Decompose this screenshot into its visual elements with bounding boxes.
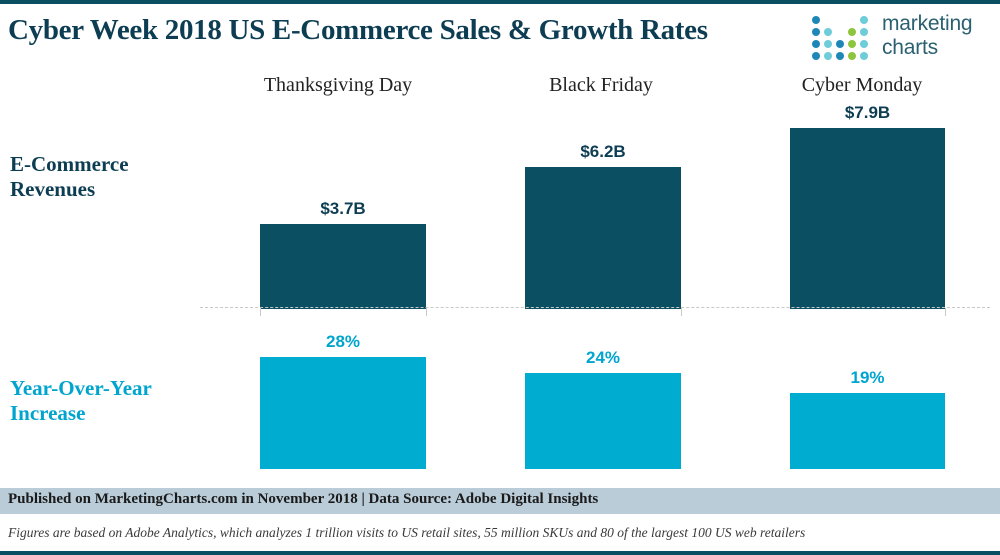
logo-dot [812, 40, 820, 48]
logo-dot [860, 28, 868, 36]
column-header-thanksgiving-day: Thanksgiving Day [200, 74, 476, 97]
logo-dot [824, 52, 832, 60]
axis-tick [426, 308, 427, 316]
row-label-ecommerce-revenues: E-Commerce Revenues [10, 152, 200, 202]
logo-dot [860, 40, 868, 48]
axis-tick [260, 308, 261, 316]
bar-revenue-thanksgiving-day [260, 224, 426, 309]
row-label-yoy-line1: Year-Over-Year [10, 376, 200, 401]
logo-dot [836, 40, 844, 48]
logo-dot [812, 28, 820, 36]
bar-yoy-thanksgiving-day [260, 357, 426, 469]
column-header-cyber-monday: Cyber Monday [730, 74, 994, 97]
logo-dot [848, 40, 856, 48]
bar-value-revenue-thanksgiving-day: $3.7B [260, 199, 426, 219]
header: Cyber Week 2018 US E-Commerce Sales & Gr… [0, 8, 1000, 66]
footer-band: Published on MarketingCharts.com in Nove… [0, 488, 1000, 514]
footer-published-text: Published on MarketingCharts.com in Nove… [8, 491, 598, 508]
bar-value-revenue-cyber-monday: $7.9B [790, 103, 945, 123]
bar-yoy-cyber-monday [790, 393, 945, 469]
logo-dot [860, 16, 868, 24]
logo-dot [860, 52, 868, 60]
row-label-year-over-year-increase: Year-Over-Year Increase [10, 376, 200, 426]
yoy-bar-panel: 28% 24% 19% [200, 334, 990, 469]
bar-revenue-cyber-monday [790, 128, 945, 309]
logo-wordmark-line2: charts [882, 36, 972, 60]
revenue-bar-panel: $3.7B $6.2B $7.9B [200, 104, 990, 309]
bar-value-yoy-thanksgiving-day: 28% [260, 332, 426, 352]
column-header-black-friday: Black Friday [468, 74, 734, 97]
logo-wordmark: marketing charts [882, 12, 972, 60]
logo-dot [824, 40, 832, 48]
logo-dot [812, 16, 820, 24]
row-label-ecommerce-revenues-line2: Revenues [10, 177, 200, 202]
logo-dot [836, 52, 844, 60]
row-label-ecommerce-revenues-line1: E-Commerce [10, 152, 200, 177]
page-title: Cyber Week 2018 US E-Commerce Sales & Gr… [8, 14, 708, 47]
bar-yoy-black-friday [525, 373, 681, 469]
footer-note-text: Figures are based on Adobe Analytics, wh… [8, 525, 805, 541]
logo-dot [824, 28, 832, 36]
axis-tick [681, 308, 682, 316]
baseline-axis [200, 307, 990, 309]
bar-value-yoy-black-friday: 24% [525, 348, 681, 368]
bar-revenue-black-friday [525, 167, 681, 309]
logo-dot [848, 28, 856, 36]
bar-value-yoy-cyber-monday: 19% [790, 368, 945, 388]
bar-value-revenue-black-friday: $6.2B [525, 142, 681, 162]
logo-dot [848, 52, 856, 60]
row-label-yoy-line2: Increase [10, 401, 200, 426]
logo-wordmark-line1: marketing [882, 12, 972, 36]
axis-tick [945, 308, 946, 316]
logo-dot-grid [812, 16, 874, 60]
marketingcharts-logo: marketing charts [810, 12, 990, 64]
chart-infographic: Cyber Week 2018 US E-Commerce Sales & Gr… [0, 0, 1000, 555]
logo-dot [812, 52, 820, 60]
